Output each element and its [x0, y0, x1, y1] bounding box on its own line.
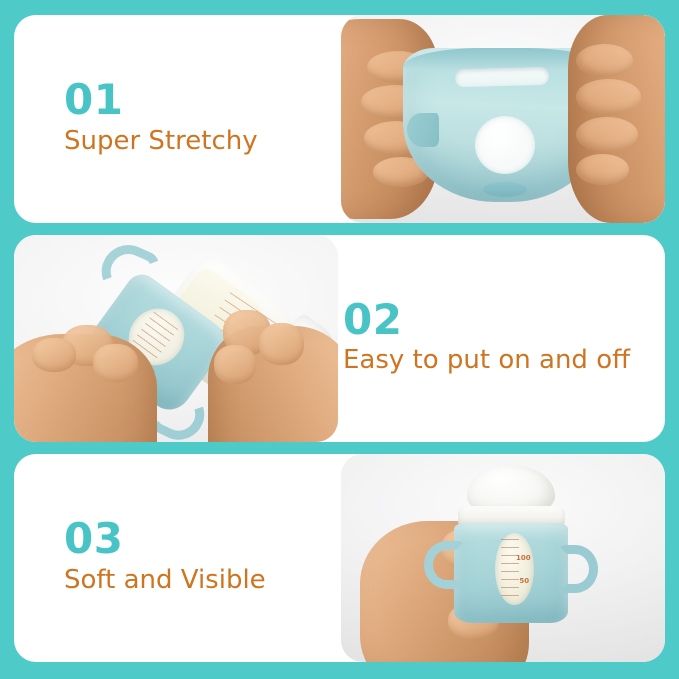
left-hand — [14, 334, 157, 442]
sleeve-handle-right — [558, 545, 599, 593]
panel-3-photo: 100 50 — [341, 454, 665, 662]
sleeve-view-window — [475, 116, 535, 174]
sleeve-handle-upper — [94, 237, 164, 306]
panel-1-step-title: Super Stretchy — [64, 124, 341, 159]
panel-3-step-number: 03 — [64, 518, 341, 561]
panel-2-step-number: 02 — [343, 299, 665, 342]
measurement-label-100: 100 — [516, 554, 531, 562]
panel-2-text-block: 02 Easy to put on and off — [338, 235, 665, 443]
panel-1-photo — [341, 15, 665, 223]
panel-1-step-number: 01 — [64, 79, 341, 122]
sleeve-top-slot — [455, 67, 550, 88]
right-hand — [208, 326, 338, 442]
panel-2-photo: 150 100 — [14, 235, 338, 443]
silicone-sleeve: 100 50 — [454, 523, 567, 623]
sleeve-handle-left — [407, 113, 439, 147]
panel-2-step-title: Easy to put on and off — [343, 343, 665, 378]
sleeve-on-bottle-scene: 150 100 — [14, 235, 338, 443]
stretching-sleeve-scene — [341, 15, 665, 223]
measurement-label-50: 50 — [519, 577, 529, 585]
window-ticks — [501, 539, 519, 599]
sleeve-base — [483, 182, 527, 197]
right-hand — [568, 15, 665, 223]
bottle-in-hand-scene: 100 50 — [341, 454, 665, 662]
sleeve-handle-left — [424, 541, 465, 589]
panel-1-text-block: 01 Super Stretchy — [14, 15, 341, 223]
panel-3-text-block: 03 Soft and Visible — [14, 454, 341, 662]
feature-panel-2: 02 Easy to put on and off 150 100 — [14, 235, 665, 443]
feature-panel-1: 01 Super Stretchy — [14, 15, 665, 223]
panel-3-step-title: Soft and Visible — [64, 563, 341, 598]
feature-panel-3: 03 Soft and Visible 100 — [14, 454, 665, 662]
feature-poster: 01 Super Stretchy — [0, 0, 679, 679]
sleeve-view-window: 100 50 — [495, 533, 534, 605]
